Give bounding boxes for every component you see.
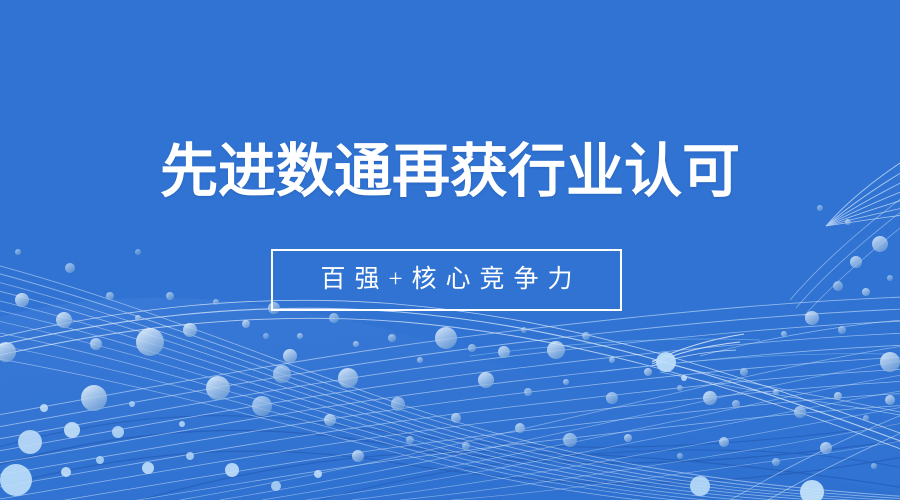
promo-banner: 先进数通再获行业认可 百强+核心竞争力 <box>0 0 900 500</box>
page-title: 先进数通再获行业认可 <box>0 136 900 208</box>
banner-text-layer: 先进数通再获行业认可 百强+核心竞争力 <box>0 0 900 500</box>
subtitle-badge: 百强+核心竞争力 <box>271 249 622 311</box>
subtitle-text: 百强+核心竞争力 <box>311 265 581 295</box>
